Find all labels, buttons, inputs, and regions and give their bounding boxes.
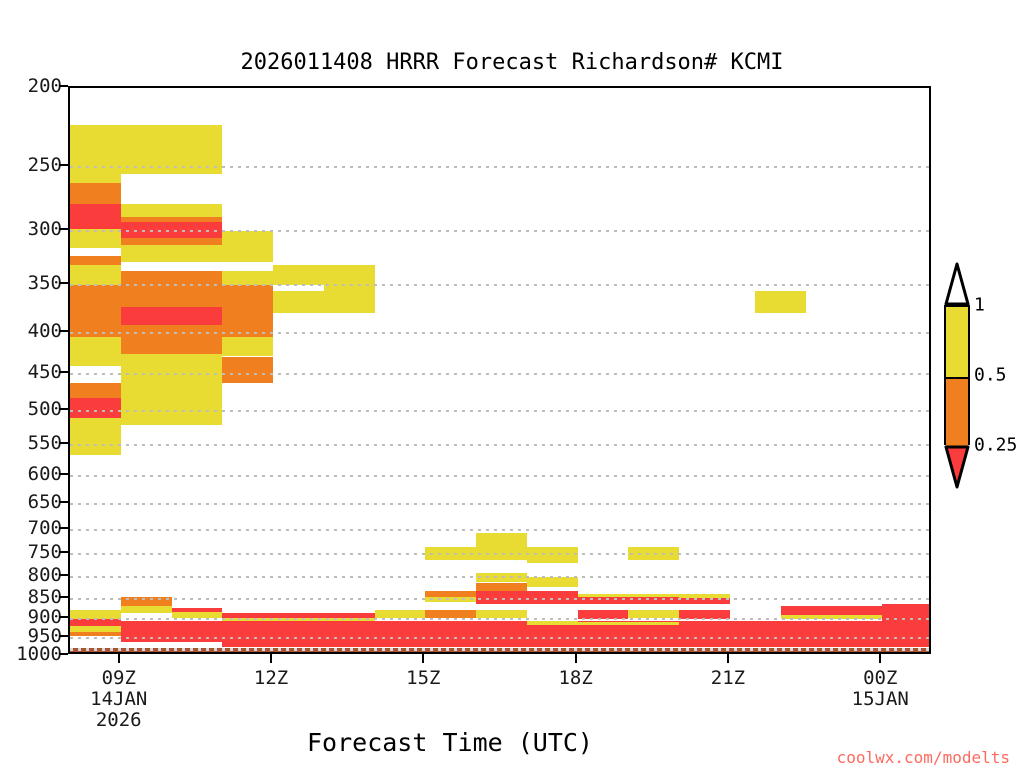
heatmap-cell xyxy=(70,152,121,173)
y-axis-tick-label: 400 xyxy=(0,320,62,342)
legend-triangle-down xyxy=(944,445,970,489)
x-axis-tick-label-line: 15Z xyxy=(406,668,440,689)
heatmap-cell xyxy=(172,612,223,618)
x-axis-tick-label-line: 18Z xyxy=(558,668,592,689)
y-axis-tick-label: 800 xyxy=(0,564,62,586)
y-axis-tick-mark xyxy=(59,473,68,475)
heatmap-cell xyxy=(527,621,578,625)
x-axis-tick-label: 18Z xyxy=(558,668,592,689)
heatmap-cell xyxy=(70,125,121,153)
heatmap-cell xyxy=(121,307,223,325)
heatmap-cell xyxy=(578,610,629,619)
heatmap-cell xyxy=(425,597,476,602)
x-axis-tick-label-line: 21Z xyxy=(711,668,745,689)
heatmap-cell xyxy=(121,337,223,354)
heatmap-cell xyxy=(527,577,578,587)
heatmap-cell xyxy=(273,265,375,286)
heatmap-cell xyxy=(476,591,578,604)
heatmap-cell xyxy=(781,615,883,619)
x-axis-tick-mark xyxy=(575,654,577,663)
heatmap-cell xyxy=(121,125,223,174)
x-axis-tick-mark xyxy=(270,654,272,663)
heatmap-cell xyxy=(121,245,273,262)
legend-triangle-up xyxy=(944,262,970,306)
heatmap-cell xyxy=(679,598,730,604)
y-axis-tick-mark xyxy=(59,85,68,87)
x-axis-tick-label: 09Z14JAN2026 xyxy=(90,668,147,731)
y-axis-tick-label: 250 xyxy=(0,154,62,176)
heatmap-cell xyxy=(70,307,121,337)
heatmap-cell xyxy=(222,621,931,647)
chart-page: 2026011408 HRRR Forecast Richardson# KCM… xyxy=(0,0,1024,768)
heatmap-cell xyxy=(578,594,680,597)
y-axis-tick-label: 1000 xyxy=(0,643,62,665)
heatmap-cell xyxy=(121,621,223,642)
heatmap-cell xyxy=(375,610,426,618)
y-axis-tick-label: 200 xyxy=(0,75,62,97)
legend-segment xyxy=(946,307,968,379)
heatmap-cell xyxy=(70,204,121,229)
heatmap-cell xyxy=(273,291,324,313)
heatmap-cell xyxy=(121,204,223,216)
legend-colorbar: 10.50.25 xyxy=(944,305,970,445)
heatmap-cell xyxy=(324,285,375,312)
x-axis-tick-label-line: 15JAN xyxy=(852,689,909,710)
heatmap-cell xyxy=(578,597,680,604)
x-axis-tick-label-line: 09Z xyxy=(90,668,147,689)
heatmap-cell xyxy=(476,610,527,618)
heatmap-cell xyxy=(882,604,931,621)
y-axis-tick-mark xyxy=(59,164,68,166)
heatmap-cell xyxy=(121,271,223,285)
y-axis-tick-mark xyxy=(59,596,68,598)
y-axis-tick-mark xyxy=(59,501,68,503)
y-axis-tick-mark xyxy=(59,282,68,284)
y-axis-tick-mark xyxy=(59,228,68,230)
plot-area xyxy=(68,86,931,654)
x-axis-tick-label-line: 14JAN xyxy=(90,689,147,710)
heatmap-cell xyxy=(222,307,273,337)
y-axis-tick-label: 500 xyxy=(0,398,62,420)
ground-top-edge xyxy=(70,648,929,651)
y-axis-tick-label: 550 xyxy=(0,432,62,454)
heatmap-cell xyxy=(70,183,121,204)
heatmap-cell xyxy=(628,610,679,618)
heatmap-cell xyxy=(121,325,223,337)
x-axis-tick-mark xyxy=(879,654,881,663)
heatmap-cell xyxy=(70,285,273,307)
heatmap-cell xyxy=(425,610,476,618)
x-axis-tick-label-line: 2026 xyxy=(90,710,147,731)
heatmap-cell xyxy=(222,337,273,356)
y-axis-tick-mark xyxy=(59,408,68,410)
heatmap-cell xyxy=(628,547,679,560)
y-axis-tick-mark xyxy=(59,527,68,529)
y-axis-tick-mark xyxy=(59,551,68,553)
heatmap-cell xyxy=(679,610,730,619)
page-title: 2026011408 HRRR Forecast Richardson# KCM… xyxy=(0,50,1024,75)
legend-segment xyxy=(946,379,968,449)
heatmap-cell xyxy=(222,271,273,285)
heatmap-cell xyxy=(121,378,223,425)
y-axis-tick-mark xyxy=(59,574,68,576)
y-axis-tick-label: 750 xyxy=(0,541,62,563)
y-axis-tick-mark xyxy=(59,330,68,332)
y-axis-tick-label: 650 xyxy=(0,491,62,513)
heatmap-cell xyxy=(679,594,730,598)
y-axis-tick-mark xyxy=(59,616,68,618)
ground-band xyxy=(70,648,929,652)
heatmap-cell xyxy=(70,229,121,249)
y-axis-tick-label: 450 xyxy=(0,361,62,383)
x-axis-tick-label: 21Z xyxy=(711,668,745,689)
legend-tick-label: 1 xyxy=(974,295,985,316)
y-axis-tick-label: 350 xyxy=(0,272,62,294)
heatmap-cell xyxy=(476,583,527,592)
heatmap-cell xyxy=(70,383,121,398)
x-axis-title: Forecast Time (UTC) xyxy=(0,728,900,757)
heatmap-cell xyxy=(70,337,121,366)
y-axis-tick-mark xyxy=(59,371,68,373)
x-axis-tick-mark xyxy=(727,654,729,663)
heatmap-cell xyxy=(222,231,273,245)
y-axis-tick-mark xyxy=(59,653,68,655)
x-axis-tick-label: 15Z xyxy=(406,668,440,689)
x-axis-tick-label: 12Z xyxy=(254,668,288,689)
heatmap-cell xyxy=(121,354,223,378)
y-axis-tick-mark xyxy=(59,442,68,444)
legend-bar xyxy=(944,305,970,445)
x-axis-tick-label: 00Z15JAN xyxy=(852,668,909,710)
y-axis-tick-label: 700 xyxy=(0,517,62,539)
heatmap-cell xyxy=(755,291,806,313)
legend-tick-label: 0.25 xyxy=(974,435,1017,456)
y-axis-tick-label: 600 xyxy=(0,463,62,485)
heatmap-cell xyxy=(121,238,223,245)
x-axis-tick-label-line: 12Z xyxy=(254,668,288,689)
heatmap-cell xyxy=(70,398,121,418)
heatmap-cell xyxy=(70,418,121,454)
y-axis-tick-label: 300 xyxy=(0,218,62,240)
heatmap-cells xyxy=(70,88,929,652)
x-axis-tick-mark xyxy=(422,654,424,663)
watermark: coolwx.com/modelts xyxy=(837,748,1010,767)
heatmap-cell xyxy=(476,573,527,583)
heatmap-cell xyxy=(476,533,527,548)
heatmap-cell xyxy=(121,597,172,606)
x-axis-tick-label-line: 00Z xyxy=(852,668,909,689)
heatmap-cell xyxy=(527,547,578,562)
heatmap-cell xyxy=(70,610,121,619)
heatmap-cell xyxy=(425,547,527,560)
heatmap-cell xyxy=(70,632,121,636)
y-axis-tick-mark xyxy=(59,635,68,637)
heatmap-cell xyxy=(578,622,680,625)
y-axis-tick-label: 850 xyxy=(0,586,62,608)
heatmap-cell xyxy=(121,222,223,239)
heatmap-cell xyxy=(70,174,121,184)
heatmap-cell xyxy=(121,606,172,613)
heatmap-cell xyxy=(70,256,121,265)
x-axis-tick-mark xyxy=(118,654,120,663)
heatmap-cell xyxy=(70,619,121,626)
heatmap-cell xyxy=(222,357,273,384)
legend-tick-label: 0.5 xyxy=(974,365,1007,386)
heatmap-cell xyxy=(730,610,781,618)
